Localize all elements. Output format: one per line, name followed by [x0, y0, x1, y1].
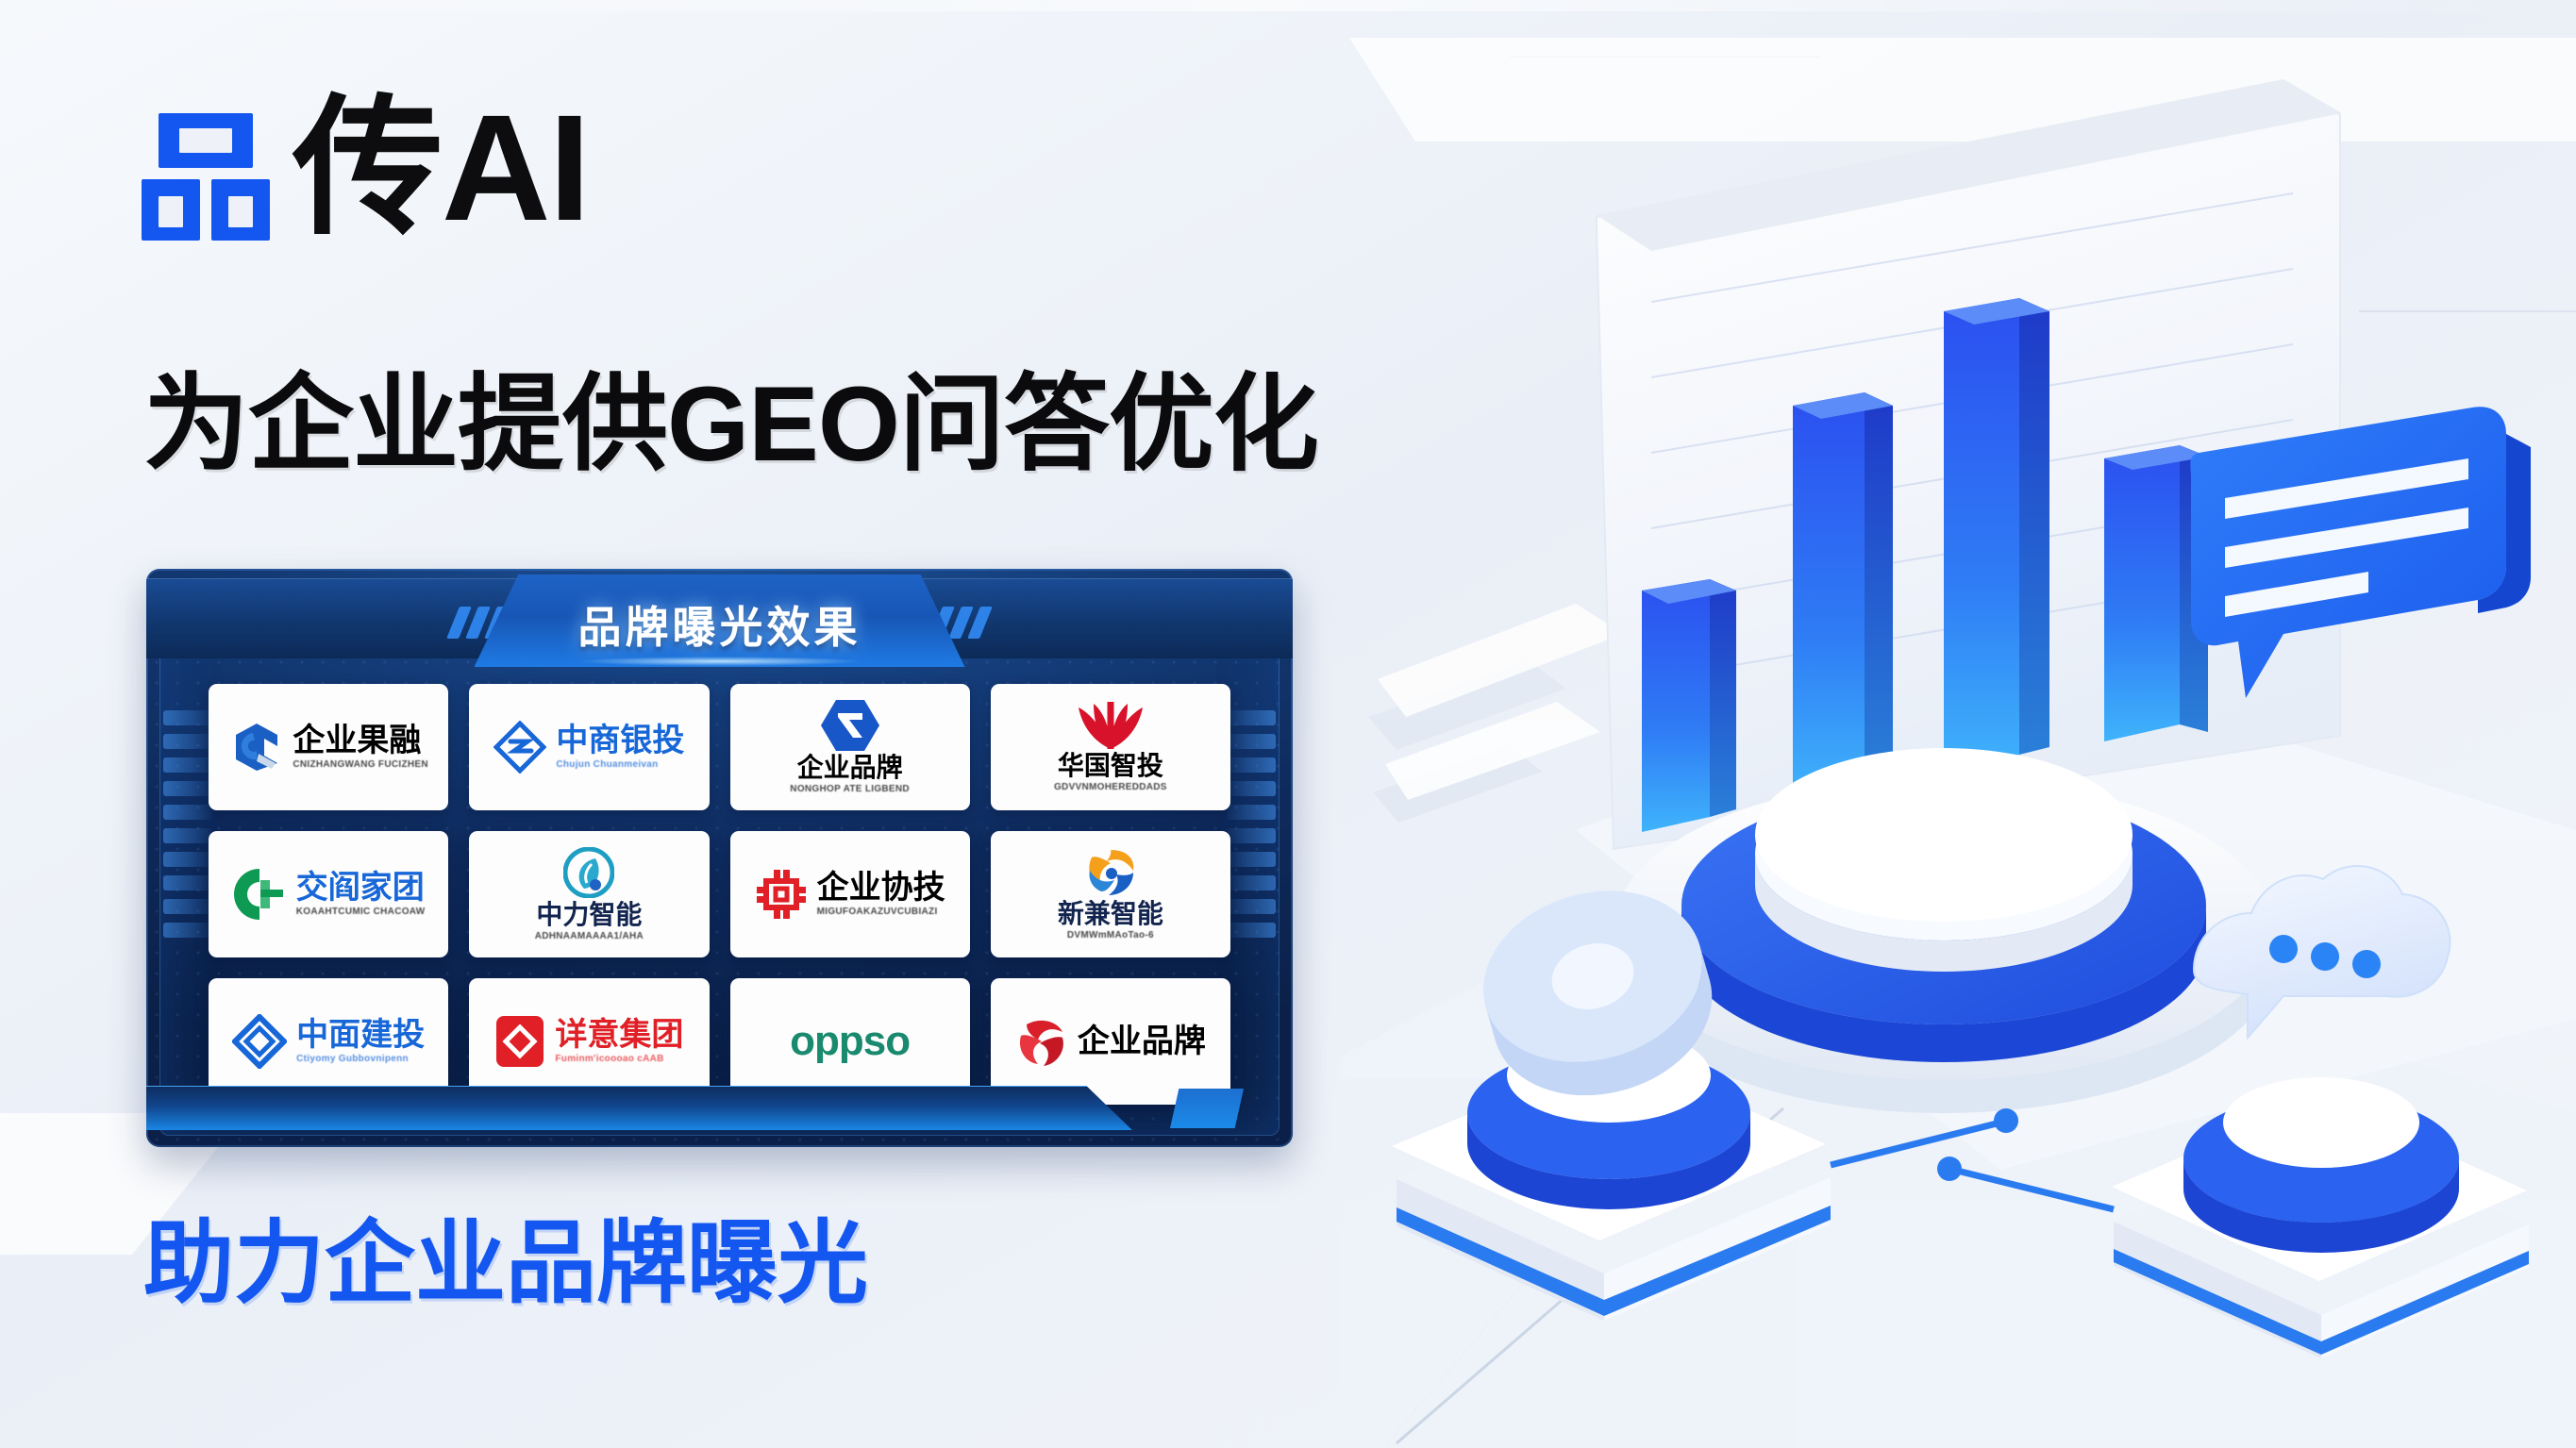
headline-text: 为企业提供GEO问答优化: [143, 368, 1318, 481]
logo-name-cn: 企业品牌: [797, 755, 903, 781]
hex-arrow-icon: [821, 700, 879, 751]
logo-name-cn: 交阎家团: [296, 872, 425, 904]
logo-name-en: DVMWmMAoTao-6: [1067, 931, 1154, 940]
chat-bubble-icon: [2190, 407, 2531, 698]
bar-1: [1642, 579, 1736, 832]
logo-name-en: NONGHOP ATE LIGBEND: [790, 785, 910, 794]
panel-title-glow: [578, 657, 861, 666]
logo-name-en: CNIZHANGWANG FUCIZHEN: [293, 760, 428, 770]
c-shield-icon: [228, 720, 283, 774]
diamond-s-icon: [493, 721, 546, 774]
brand-exposure-panel: 品牌曝光效果 企业果融 CNIZHANGWANG FUCIZHEN: [146, 569, 1293, 1147]
swirl-wave-icon: [1084, 848, 1137, 897]
footline-text: 助力企业品牌曝光: [143, 1212, 868, 1316]
logo-card[interactable]: 交阎家团 KOAAHTCUMIC CHACOAW: [209, 831, 448, 957]
red-gear-icon: [755, 868, 808, 921]
logo-name-en: Fuminm'icoooao cAAB: [555, 1055, 663, 1064]
leaf-drop-icon: [563, 847, 614, 898]
logo-name-en: MIGUFOAKAZUVCUBIAZI: [817, 907, 938, 917]
bar-3: [1944, 298, 2049, 772]
logo-name-cn: 中面建投: [296, 1019, 425, 1051]
brand-wordmark: 传AI: [293, 104, 589, 231]
logo-name-cn: 详意集团: [555, 1019, 683, 1051]
blue-diamond-icon: [232, 1014, 287, 1069]
logo-name-cn: 企业协技: [817, 872, 945, 904]
left-content-column: 传AI 为企业提供GEO问答优化 品牌曝光效果: [0, 0, 1397, 1448]
panel-header-banner: 品牌曝光效果: [146, 569, 1293, 668]
panel-title: 品牌曝光效果: [578, 593, 861, 656]
logo-card[interactable]: 中商银投 Chujun Chuanmeivan: [469, 684, 709, 810]
logo-card[interactable]: 企业协技 MIGUFOAKAZUVCUBIAZI: [730, 831, 970, 957]
panel-footer-band: [146, 1086, 1293, 1130]
brand-lockup: 传AI: [142, 104, 589, 241]
logo-card[interactable]: 华国智投 GDVVNMOHEREDDADS: [991, 684, 1230, 810]
logo-card[interactable]: 企业果融 CNIZHANGWANG FUCIZHEN: [209, 684, 448, 810]
logo-name-cn: 中力智能: [536, 902, 642, 928]
pin-blocks-logo-icon: [142, 113, 283, 241]
logo-name-cn: 中商银投: [556, 724, 684, 757]
green-c-icon: [232, 867, 287, 922]
logo-name-cn: 企业品牌: [1078, 1025, 1206, 1057]
red-square-diamond-icon: [494, 1014, 545, 1069]
logo-name-en: ADHNAAMAAAA1/AHA: [535, 932, 644, 941]
logo-name-cn: 华国智投: [1058, 753, 1163, 779]
red-fan-icon: [1075, 702, 1146, 749]
hero-3d-illustration: [1340, 0, 2576, 1448]
panel-left-slats: [163, 710, 212, 984]
logo-name-en: GDVVNMOHEREDDADS: [1054, 783, 1167, 792]
logo-card[interactable]: 新兼智能 DVMWmMAoTao-6: [991, 831, 1230, 957]
panel-footer-bar: [146, 1074, 1293, 1147]
logo-name-cn: 新兼智能: [1058, 901, 1163, 927]
logo-name-en: Ctiyomy Gubbovnipenn: [296, 1055, 409, 1064]
logo-name-cn: 企业果融: [293, 724, 421, 757]
red-swirl-icon: [1015, 1015, 1068, 1068]
panel-right-slats: [1227, 710, 1276, 984]
logo-wordmark: oppso: [790, 1018, 910, 1065]
bar-2: [1793, 392, 1893, 798]
logo-name-en: KOAAHTCUMIC CHACOAW: [296, 907, 426, 917]
logo-name-en: Chujun Chuanmeivan: [556, 760, 658, 770]
panel-footer-accent: [1170, 1089, 1244, 1128]
logo-grid: 企业果融 CNIZHANGWANG FUCIZHEN 中商银投 Chujun C…: [209, 684, 1230, 1105]
logo-card[interactable]: 企业品牌 NONGHOP ATE LIGBEND: [730, 684, 970, 810]
logo-card[interactable]: 中力智能 ADHNAAMAAAA1/AHA: [469, 831, 709, 957]
